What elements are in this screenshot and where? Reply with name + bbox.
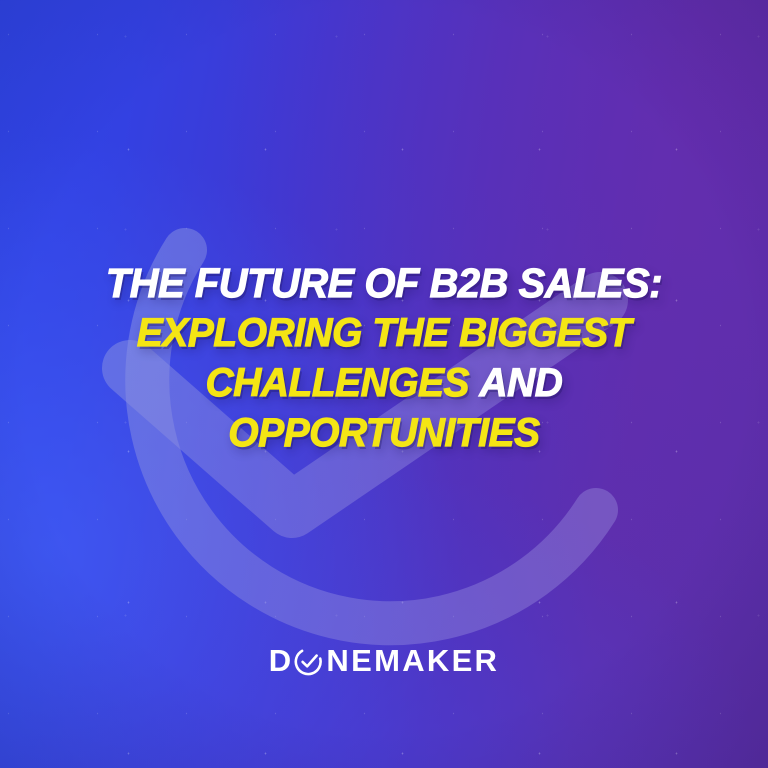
- headline-line-3-white: AND: [479, 361, 562, 405]
- check-ring-icon: [294, 647, 324, 677]
- headline-line-4: OPPORTUNITIES: [45, 408, 724, 458]
- brand-name-prefix: D: [269, 645, 294, 676]
- brand-logo: D NEMAKER: [0, 645, 768, 676]
- brand-name-suffix: NEMAKER: [326, 645, 499, 676]
- headline-line-3-accent: CHALLENGES: [206, 361, 469, 405]
- headline-line-2: EXPLORING THE BIGGEST: [45, 308, 724, 358]
- headline-line-3: CHALLENGES AND: [45, 358, 724, 408]
- social-poster: THE FUTURE OF B2B SALES: EXPLORING THE B…: [0, 0, 768, 768]
- headline-block: THE FUTURE OF B2B SALES: EXPLORING THE B…: [0, 258, 768, 458]
- headline-line-1: THE FUTURE OF B2B SALES:: [45, 258, 724, 308]
- headline-line-3-conjunction: [469, 361, 479, 405]
